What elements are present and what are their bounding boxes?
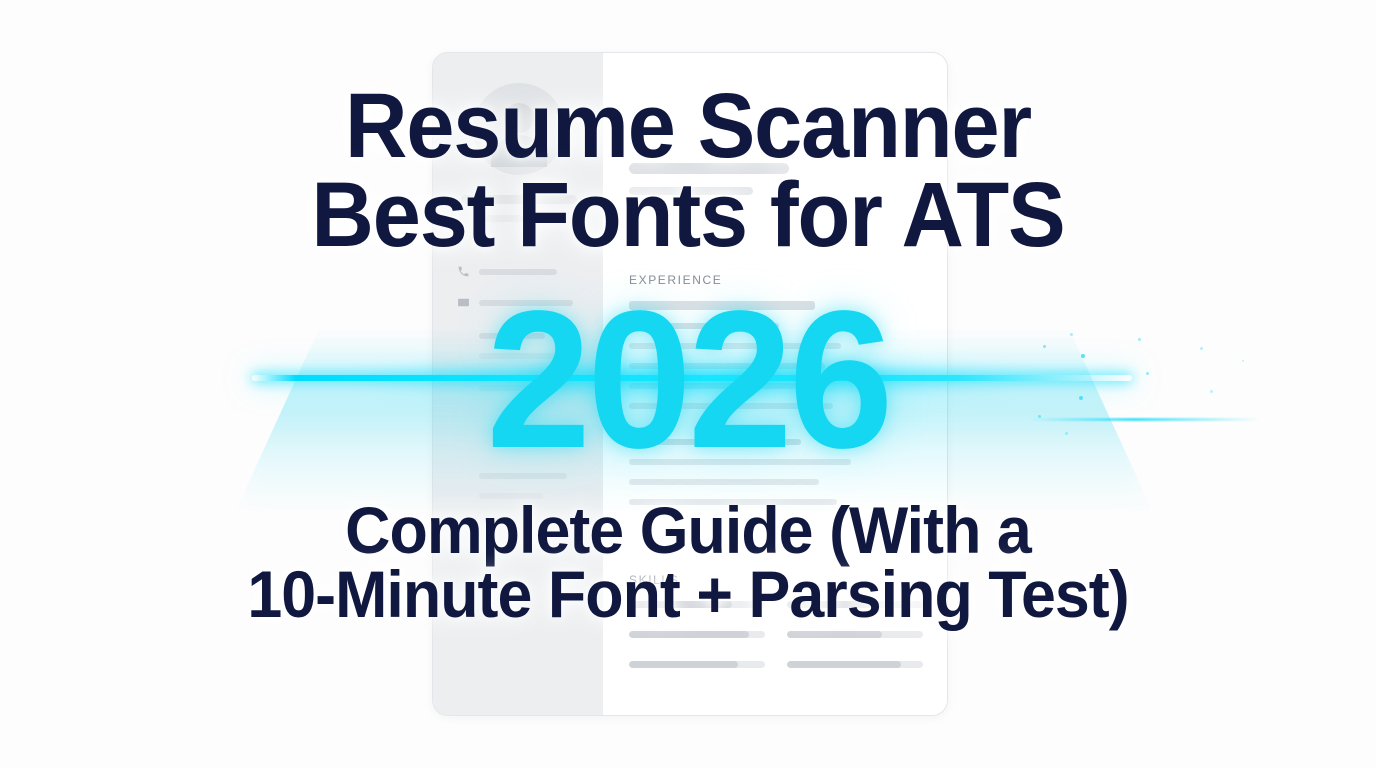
skill-bar — [787, 661, 923, 668]
title-line-1: Resume Scanner — [41, 82, 1334, 171]
skill-bar — [629, 631, 765, 638]
page-title: Resume Scanner Best Fonts for ATS — [41, 82, 1334, 260]
title-line-2: Best Fonts for ATS — [41, 171, 1334, 260]
skill-bar — [629, 661, 765, 668]
year-display: 2026 — [28, 282, 1349, 478]
subtitle-line-2: 10-Minute Font + Parsing Test) — [34, 562, 1341, 626]
subtitle-line-1: Complete Guide (With a — [34, 498, 1341, 562]
page-subtitle: Complete Guide (With a 10-Minute Font + … — [34, 498, 1341, 626]
skill-bar — [787, 631, 923, 638]
poster-canvas: EXPERIENCE SKILLS — [0, 0, 1376, 768]
phone-icon — [457, 265, 470, 278]
